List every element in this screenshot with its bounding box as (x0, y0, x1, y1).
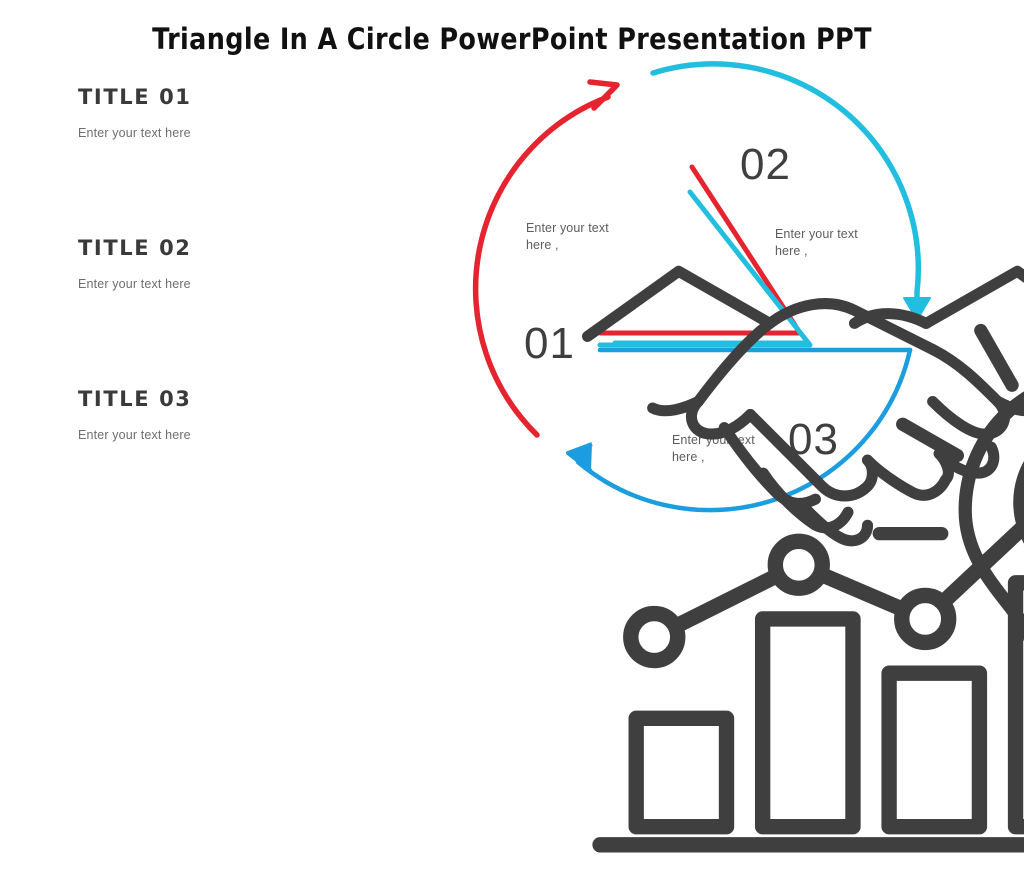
arrow-head-red (590, 82, 617, 108)
list-item[interactable]: TITLE 01 Enter your text here (78, 84, 378, 140)
list-item[interactable]: TITLE 03 Enter your text here (78, 386, 378, 442)
bar-chart-icon (582, 378, 1024, 878)
list-item-title: TITLE 02 (78, 235, 378, 261)
list-item[interactable]: TITLE 02 Enter your text here (78, 235, 378, 291)
list-item-title: TITLE 03 (78, 386, 378, 412)
list-item-title: TITLE 01 (78, 84, 378, 110)
list-item-subtitle: Enter your text here (78, 428, 378, 442)
list-item-subtitle: Enter your text here (78, 277, 378, 291)
circle-triangle-diagram: 01 02 03 Enter your text here , Enter yo… (440, 40, 1000, 540)
slide-canvas: Triangle In A Circle PowerPoint Presenta… (0, 0, 1024, 576)
list-item-subtitle: Enter your text here (78, 126, 378, 140)
